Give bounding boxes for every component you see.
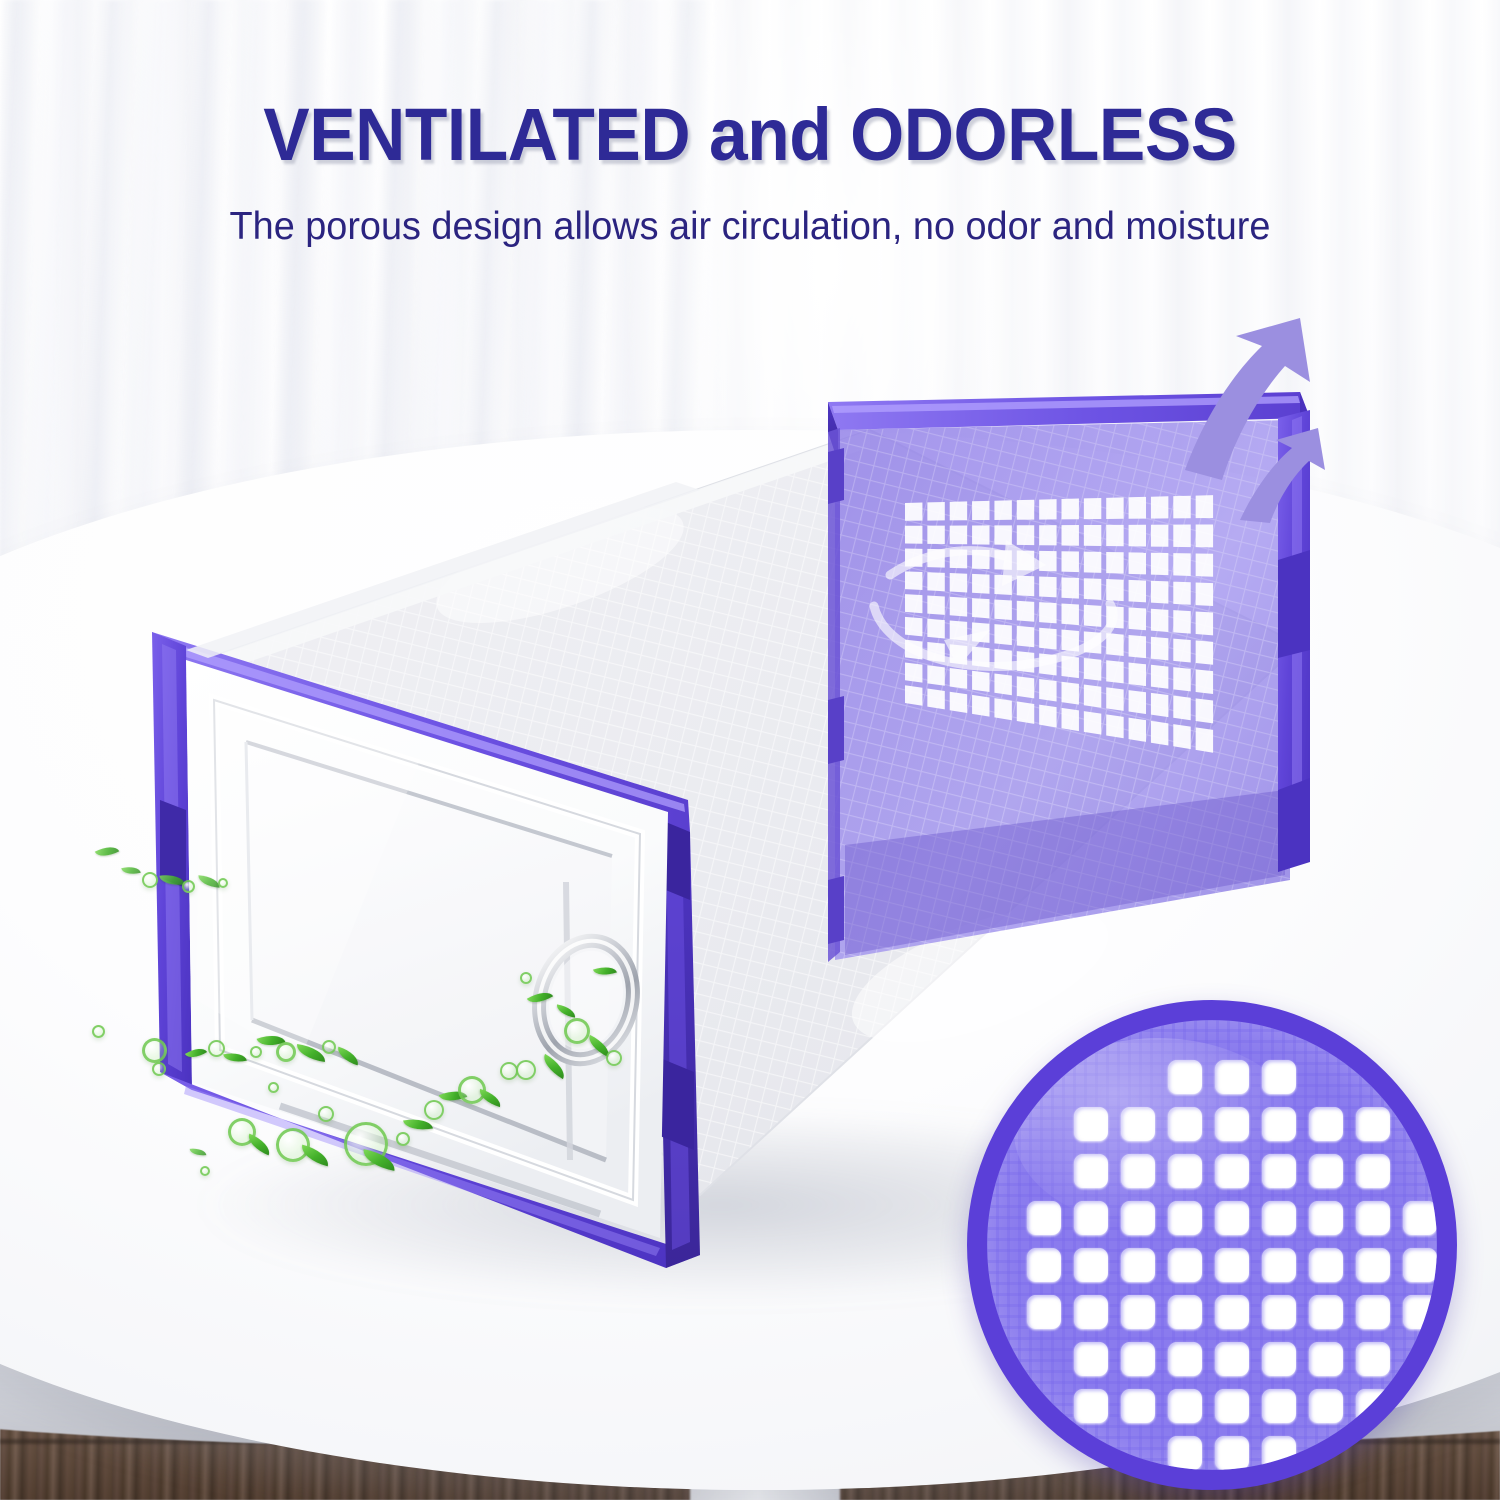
back-panel-hole	[1039, 628, 1056, 650]
back-panel-hole	[1129, 580, 1146, 602]
back-panel-hole	[950, 692, 967, 713]
back-panel-hole	[1039, 576, 1056, 597]
back-panel-hole	[950, 573, 967, 592]
back-panel-hole	[1106, 633, 1123, 656]
mesh-hole	[1356, 1295, 1390, 1329]
back-panel-hole	[905, 526, 922, 544]
back-panel-hole	[1084, 498, 1101, 519]
page-title: VENTILATED and ODORLESS	[45, 92, 1455, 177]
back-panel-hole	[994, 624, 1011, 645]
mesh-hole	[1309, 1107, 1343, 1141]
back-panel-hole	[1084, 578, 1101, 600]
back-panel-hole	[972, 501, 989, 520]
back-panel-hole	[1151, 496, 1168, 518]
mesh-hole	[1074, 1248, 1108, 1282]
mesh-hole	[1074, 1389, 1108, 1423]
back-panel-hole	[1084, 658, 1101, 681]
mesh-hole	[1356, 1248, 1390, 1282]
bubble	[218, 878, 228, 888]
mesh-hole	[1121, 1248, 1155, 1282]
back-panel-hole	[1039, 705, 1056, 728]
back-panel-hole	[1062, 577, 1079, 598]
mesh-hole	[1309, 1201, 1343, 1235]
back-panel-hole	[1017, 701, 1034, 723]
mesh-hole	[1215, 1436, 1249, 1470]
back-panel-hole	[1084, 552, 1101, 573]
mesh-hole	[1262, 1248, 1296, 1282]
back-panel-hole	[950, 597, 967, 617]
back-panel-hole	[972, 574, 989, 594]
mesh-hole	[1262, 1060, 1296, 1094]
back-panel-hole	[1196, 669, 1213, 694]
back-panel-hole	[972, 525, 989, 544]
back-panel-hole	[927, 572, 944, 591]
mesh-magnifier	[967, 1000, 1457, 1490]
mesh-hole	[1074, 1342, 1108, 1376]
mesh-hole	[1356, 1107, 1390, 1141]
back-panel-hole	[1017, 525, 1034, 545]
back-panel-hole	[1196, 611, 1213, 635]
back-panel-hole	[1151, 693, 1168, 717]
back-ventilated-panel	[828, 392, 1310, 962]
back-panel-hole	[1196, 582, 1213, 606]
back-panel-hole	[1173, 553, 1190, 576]
back-panel-hole	[1151, 721, 1168, 746]
back-panel-hole	[1062, 603, 1079, 625]
bubble	[318, 1106, 334, 1122]
mesh-hole	[1356, 1154, 1390, 1188]
mesh-hole	[1027, 1295, 1061, 1329]
bubble	[396, 1132, 410, 1146]
back-panel-hole	[1039, 602, 1056, 623]
back-panel-hole	[1084, 525, 1101, 546]
mesh-hole	[1309, 1295, 1343, 1329]
back-panel-hole	[950, 668, 967, 689]
mesh-hole	[1262, 1436, 1296, 1470]
back-panel-hole	[972, 598, 989, 618]
back-panel-hole	[994, 500, 1011, 520]
mesh-hole	[1262, 1295, 1296, 1329]
bubble	[424, 1100, 444, 1120]
bubble	[142, 1038, 167, 1063]
bubble	[520, 972, 532, 984]
back-panel-hole	[1173, 496, 1190, 519]
mesh-hole	[1215, 1154, 1249, 1188]
mesh-hole	[1403, 1201, 1437, 1235]
back-panel-hole	[905, 571, 922, 590]
back-panel-hole	[1173, 696, 1190, 721]
back-panel-hole	[1173, 724, 1190, 749]
mesh-hole	[1168, 1389, 1202, 1423]
back-panel-hole	[1151, 553, 1168, 575]
mesh-hole	[1215, 1107, 1249, 1141]
back-panel-hole	[972, 671, 989, 692]
back-panel-hole	[1039, 679, 1056, 701]
product-marketing-image: VENTILATED and ODORLESS The porous desig…	[0, 0, 1500, 1500]
back-panel-hole	[1173, 525, 1190, 548]
back-panel-hole	[1151, 665, 1168, 689]
mesh-hole	[1121, 1107, 1155, 1141]
back-panel-hole	[1084, 685, 1101, 708]
back-panel-hole	[1062, 551, 1079, 572]
back-panel-hole	[927, 665, 944, 686]
bubble	[606, 1050, 622, 1066]
bubble	[268, 1082, 279, 1093]
mesh-hole	[1215, 1248, 1249, 1282]
back-panel-hole	[1017, 676, 1034, 698]
back-panel-hole	[994, 698, 1011, 720]
mesh-hole	[1168, 1060, 1202, 1094]
back-panel-hole	[1062, 682, 1079, 705]
mesh-hole	[1309, 1154, 1343, 1188]
back-panel-hole	[1151, 525, 1168, 547]
back-panel-hole	[905, 662, 922, 682]
back-panel-hole	[905, 503, 922, 521]
back-panel-hole	[1106, 525, 1123, 546]
mesh-hole	[1121, 1295, 1155, 1329]
back-panel-hole	[1106, 552, 1123, 574]
mesh-holes	[987, 1020, 1437, 1470]
mesh-hole	[1027, 1201, 1061, 1235]
bubble	[182, 880, 195, 893]
mesh-hole	[1121, 1389, 1155, 1423]
page-subtitle: The porous design allows air circulation…	[23, 205, 1478, 249]
back-panel-hole	[972, 695, 989, 717]
bubble	[516, 1060, 536, 1080]
mesh-hole	[1168, 1436, 1202, 1470]
bubble	[142, 872, 158, 888]
mesh-hole	[1168, 1154, 1202, 1188]
back-panel-hole	[1129, 525, 1146, 547]
mesh-hole	[1262, 1201, 1296, 1235]
bubble	[564, 1018, 590, 1044]
bubble	[250, 1046, 262, 1058]
back-panel-hole	[1106, 579, 1123, 601]
back-panel-hole	[1196, 554, 1213, 577]
back-panel-hole	[1129, 663, 1146, 687]
back-panel-hole	[1129, 607, 1146, 630]
back-panel-hole	[1173, 667, 1190, 691]
back-panel-hole	[1196, 640, 1213, 664]
mesh-hole	[1403, 1248, 1437, 1282]
back-panel-hole	[927, 502, 944, 521]
back-panel-hole	[1106, 687, 1123, 711]
mesh-hole	[1262, 1342, 1296, 1376]
mesh-hole	[1121, 1154, 1155, 1188]
mesh-hole	[1262, 1154, 1296, 1188]
back-panel-hole	[1039, 499, 1056, 519]
mesh-hole	[1168, 1248, 1202, 1282]
back-panel-hole	[1129, 690, 1146, 714]
back-panel-hole	[1017, 626, 1034, 647]
mesh-hole	[1262, 1107, 1296, 1141]
back-panel-hole	[1039, 551, 1056, 572]
bubble	[322, 1040, 336, 1054]
back-panel-hole	[927, 595, 944, 614]
mesh-hole	[1168, 1295, 1202, 1329]
mesh-hole	[1356, 1389, 1390, 1423]
mesh-hole	[1121, 1201, 1155, 1235]
back-panel-hole	[1196, 727, 1213, 752]
back-panel-hole	[1129, 718, 1146, 742]
back-panel-hole	[1062, 525, 1079, 546]
mesh-hole	[1215, 1201, 1249, 1235]
mesh-hole	[1215, 1295, 1249, 1329]
back-panel-hole	[1017, 500, 1034, 520]
back-panel-hole	[1106, 660, 1123, 683]
back-panel-hole	[1084, 711, 1101, 735]
magnifier-ring	[967, 1000, 1457, 1490]
mesh-hole	[1168, 1342, 1202, 1376]
back-panel-hole	[1151, 609, 1168, 632]
back-panel-hole	[1129, 497, 1146, 519]
bubble	[200, 1166, 210, 1176]
back-panel-hole	[905, 594, 922, 613]
back-panel-hole	[1106, 497, 1123, 519]
mesh-hole	[1121, 1342, 1155, 1376]
back-panel-hole	[927, 619, 944, 639]
mesh-hole	[1074, 1201, 1108, 1235]
mesh-hole	[1309, 1248, 1343, 1282]
back-panel-hole	[1017, 576, 1034, 597]
back-panel-hole	[1151, 637, 1168, 661]
back-panel-hole	[1173, 582, 1190, 605]
back-panel-hole	[1062, 708, 1079, 731]
back-panel-hole	[1062, 499, 1079, 520]
mesh-hole	[1403, 1295, 1437, 1329]
mesh-hole	[1309, 1342, 1343, 1376]
mesh-hole	[1074, 1107, 1108, 1141]
mesh-hole	[1215, 1342, 1249, 1376]
mesh-hole	[1074, 1154, 1108, 1188]
back-panel-hole	[1039, 525, 1056, 545]
mesh-hole	[1168, 1201, 1202, 1235]
back-panel-hole	[950, 526, 967, 545]
back-panel-hole	[1173, 639, 1190, 663]
back-panel-hole	[905, 617, 922, 636]
mesh-hole	[1074, 1295, 1108, 1329]
back-panel-hole	[994, 525, 1011, 545]
back-panel-hole	[1196, 698, 1213, 723]
back-panel-hole	[1129, 552, 1146, 574]
back-panel-hole	[1129, 635, 1146, 658]
mesh-hole	[1356, 1342, 1390, 1376]
mesh-hole	[1356, 1201, 1390, 1235]
back-panel-hole	[1196, 524, 1213, 547]
back-panel-hole	[1106, 714, 1123, 738]
back-panel-hole	[950, 501, 967, 520]
bubble	[152, 1062, 166, 1076]
back-panel-hole	[1017, 601, 1034, 622]
bubble	[92, 1025, 105, 1038]
back-panel-hole	[994, 673, 1011, 695]
mesh-hole	[1027, 1248, 1061, 1282]
mesh-hole	[1168, 1107, 1202, 1141]
back-panel-hole	[905, 685, 922, 706]
bubble	[276, 1042, 296, 1062]
back-panel-hole	[1084, 605, 1101, 627]
mesh-hole	[1309, 1389, 1343, 1423]
back-panel-hole	[1196, 495, 1213, 518]
back-panel-hole	[927, 526, 944, 544]
mesh-hole	[1215, 1389, 1249, 1423]
back-panel-hole	[994, 599, 1011, 620]
back-panel-hole	[1151, 581, 1168, 604]
back-panel-hole	[927, 688, 944, 709]
mesh-hole	[1215, 1060, 1249, 1094]
back-panel-hole	[1173, 610, 1190, 634]
mesh-hole	[1262, 1389, 1296, 1423]
